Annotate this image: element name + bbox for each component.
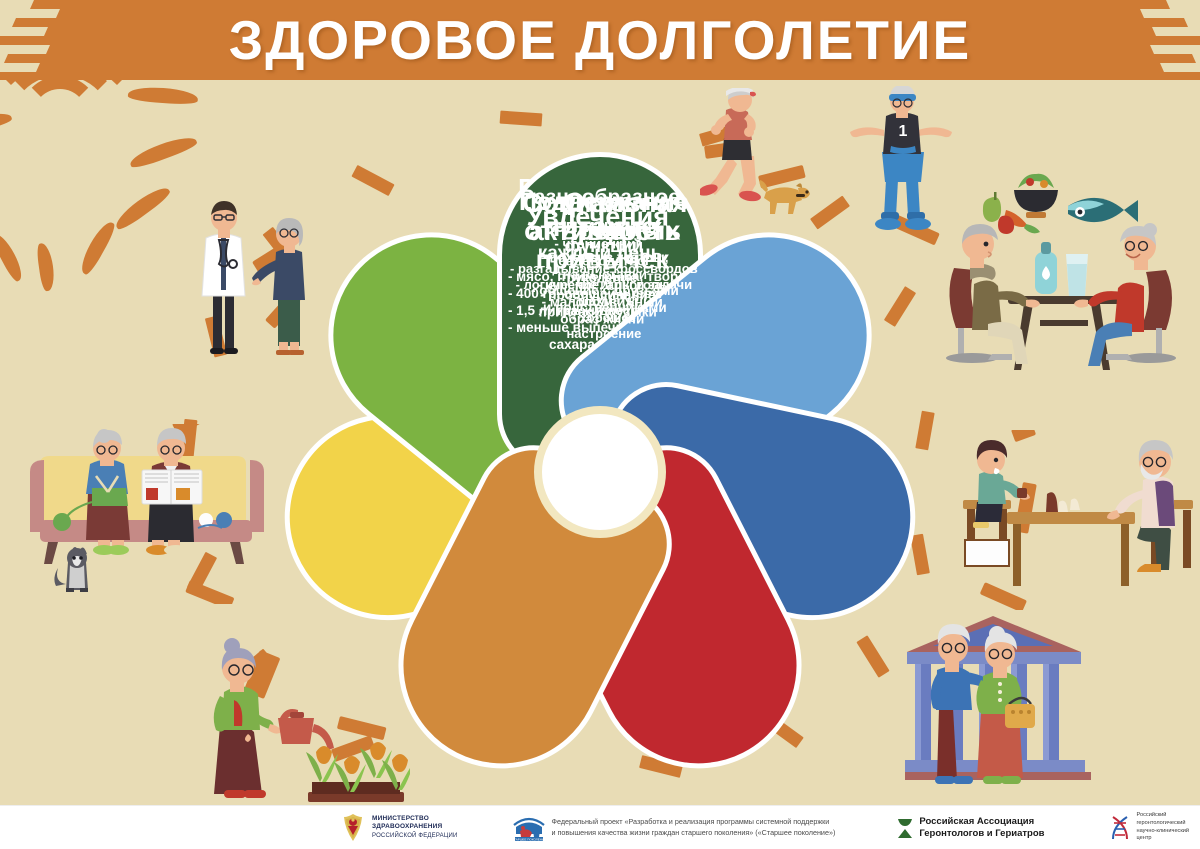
footer-ministry-line2: ЗДРАВООХРАНЕНИЯ bbox=[372, 823, 458, 832]
list-item: - чтение книг bbox=[539, 237, 657, 254]
svg-text:СТАРШЕЕ ПОКОЛЕНИЕ: СТАРШЕЕ ПОКОЛЕНИЕ bbox=[512, 837, 546, 841]
footer-center-line3: научно-клинический bbox=[1137, 828, 1190, 836]
elderly-couple-on-sofa-with-cat-illustration bbox=[22, 424, 272, 609]
footer-ministry-line3: РОССИЙСКОЙ ФЕДЕРАЦИИ bbox=[372, 832, 458, 840]
list-item: - прослушивание bbox=[539, 287, 657, 304]
flower-center-hub bbox=[534, 406, 666, 538]
elderly-couple-at-theatre-illustration bbox=[905, 612, 1105, 807]
gerontology-association-icon bbox=[897, 816, 913, 840]
footer-center-line2: геронтологический bbox=[1137, 820, 1190, 828]
flower-diagram: Ежегодный осмотр у врача -вакцинация - в… bbox=[268, 140, 932, 804]
page-title: ЗДОРОВОЕ ДОЛГОЛЕТИЕ bbox=[0, 8, 1200, 72]
footer-ministry-text: МИНИСТЕРСТВО ЗДРАВООХРАНЕНИЯ РОССИЙСКОЙ … bbox=[372, 815, 458, 841]
footer-logo-ministry: МИНИСТЕРСТВО ЗДРАВООХРАНЕНИЯ РОССИЙСКОЙ … bbox=[340, 813, 458, 843]
list-item: - садоводство bbox=[539, 254, 657, 271]
footer-logo-center: Российский геронтологический научно-клин… bbox=[1109, 812, 1190, 843]
footer-association-line2: Геронтологов и Гериатров bbox=[919, 828, 1044, 840]
footer-association-text: Российская Ассоциация Геронтологов и Гер… bbox=[919, 816, 1044, 840]
dna-helix-icon bbox=[1109, 815, 1131, 841]
petal-list: - чтение книг - садоводство - рукоделие … bbox=[539, 237, 657, 321]
footer-center-line4: центр bbox=[1137, 835, 1190, 843]
boy-and-grandfather-playing-chess-illustration bbox=[955, 430, 1195, 615]
elderly-couple-eating-healthy-food-illustration bbox=[940, 160, 1190, 395]
footer-center-line1: Российский bbox=[1137, 812, 1190, 820]
footer-project-line2: и повышения качества жизни граждан старш… bbox=[552, 828, 836, 839]
footer-bar: МИНИСТЕРСТВО ЗДРАВООХРАНЕНИЯ РОССИЙСКОЙ … bbox=[0, 805, 1200, 849]
footer-project-text: Федеральный проект «Разработка и реализа… bbox=[552, 817, 836, 839]
footer-project-line1: Федеральный проект «Разработка и реализа… bbox=[552, 817, 836, 828]
footer-ministry-line1: МИНИСТЕРСТВО bbox=[372, 815, 458, 824]
footer-logo-association: Российская Ассоциация Геронтологов и Гер… bbox=[897, 816, 1044, 840]
footer-logo-project: СТАРШЕЕ ПОКОЛЕНИЕ Федеральный проект «Ра… bbox=[512, 813, 836, 843]
russian-coat-of-arms-icon bbox=[340, 813, 366, 843]
petal-heading-big: Увлечения bbox=[526, 202, 669, 230]
poster-root: ЗДОРОВОЕ ДОЛГОЛЕТИЕ bbox=[0, 0, 1200, 849]
footer-center-text: Российский геронтологический научно-клин… bbox=[1137, 812, 1190, 843]
svg-text:1: 1 bbox=[899, 123, 908, 140]
list-item: - рукоделие bbox=[539, 271, 657, 288]
starshee-pokolenie-icon: СТАРШЕЕ ПОКОЛЕНИЕ bbox=[512, 813, 546, 843]
footer-association-line1: Российская Ассоциация bbox=[919, 816, 1044, 828]
list-item: приятной музыки bbox=[539, 304, 657, 321]
